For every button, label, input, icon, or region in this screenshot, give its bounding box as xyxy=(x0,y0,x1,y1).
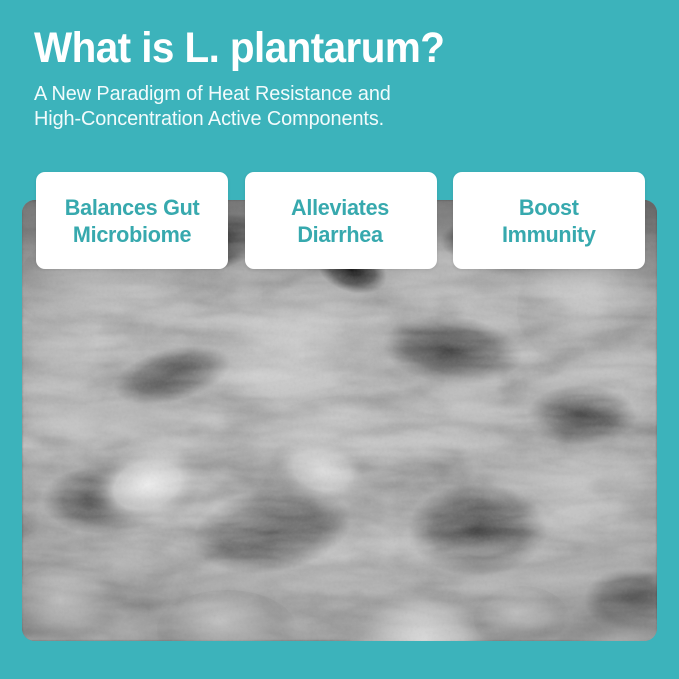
benefit-card-label: Boost Immunity xyxy=(494,194,603,248)
benefit-cards: Balances Gut Microbiome Alleviates Diarr… xyxy=(36,172,645,269)
benefit-card-alleviates-diarrhea[interactable]: Alleviates Diarrhea xyxy=(245,172,437,269)
page-subtitle-line-2: High-Concentration Active Components. xyxy=(34,106,616,131)
benefit-card-label-line-1: Boost xyxy=(519,195,579,220)
page-subtitle: A New Paradigm of Heat Resistance and Hi… xyxy=(34,72,616,131)
benefit-card-label-line-2: Immunity xyxy=(502,222,596,247)
benefit-card-label-line-2: Microbiome xyxy=(73,222,191,247)
benefit-card-label-line-1: Alleviates xyxy=(292,195,390,220)
poster-canvas: What is L. plantarum? A New Paradigm of … xyxy=(0,0,679,679)
page-title: What is L. plantarum? xyxy=(34,24,598,72)
benefit-card-balances-gut-microbiome[interactable]: Balances Gut Microbiome xyxy=(36,172,228,269)
page-subtitle-line-1: A New Paradigm of Heat Resistance and xyxy=(34,81,616,106)
benefit-card-label-line-1: Balances Gut xyxy=(65,195,200,220)
header-block: What is L. plantarum? A New Paradigm of … xyxy=(34,24,634,131)
benefit-card-label-line-2: Diarrhea xyxy=(298,222,383,247)
benefit-card-boost-immunity[interactable]: Boost Immunity xyxy=(453,172,645,269)
benefit-card-label: Alleviates Diarrhea xyxy=(284,194,397,248)
benefit-card-label: Balances Gut Microbiome xyxy=(57,194,207,248)
